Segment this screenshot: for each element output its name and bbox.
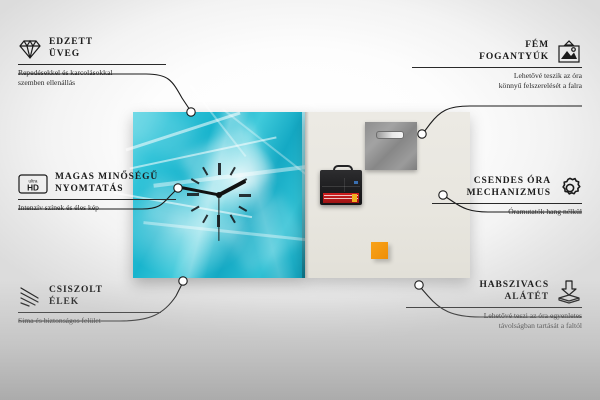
callout-metal-handles[interactable]: FÉM FOGANTYÚK Lehetővé teszik az óra kön… (412, 40, 582, 91)
callout-rule (18, 312, 161, 313)
clock-center-pin (216, 192, 222, 198)
callout-desc-line1: Sima és biztonságos felület (18, 316, 173, 326)
callout-desc-line2: könnyű felszerelését a falra (412, 81, 582, 91)
callout-title-line1: MAGAS MINŐSÉGŰ (55, 172, 158, 184)
callout-description: Intenzív színek és éles kép (18, 203, 188, 213)
mechanism-label (323, 193, 359, 203)
callout-title: EDZETT ÜVEG (49, 37, 93, 61)
polished-edges-icon (18, 286, 42, 308)
callout-title: MAGAS MINŐSÉGŰ NYOMTATÁS (55, 172, 158, 196)
callout-rule (18, 199, 176, 200)
mechanism-body (320, 170, 362, 205)
mechanism-seam (322, 186, 360, 187)
callout-description: Lehetővé teszik az óra könnyű felszerelé… (412, 71, 582, 91)
callout-description: Óramutatók hang nélkül (432, 207, 582, 217)
callout-desc-line1: Lehetővé teszi az óra egyenletes (406, 311, 582, 321)
callout-title-line2: MECHANIZMUS (467, 188, 551, 200)
callout-header: ultra HD MAGAS MINŐSÉGŰ NYOMTATÁS (18, 172, 188, 196)
clock-mechanism (320, 165, 362, 205)
callout-desc-line1: Óramutatók hang nélkül (432, 207, 582, 217)
callout-tempered-glass[interactable]: EDZETT ÜVEG Repedésekkel és karcolásokka… (18, 37, 178, 88)
callout-desc-line1: Intenzív színek és éles kép (18, 203, 188, 213)
callout-silent-mechanism[interactable]: CSENDES ÓRA MECHANIZMUS Óramutatók hang … (432, 176, 582, 217)
infographic-canvas: EDZETT ÜVEG Repedésekkel és karcolásokka… (0, 0, 600, 400)
callout-description: Lehetővé teszi az óra egyenletes távolsá… (406, 311, 582, 331)
down-arrow-pad-icon (556, 280, 582, 304)
callout-title-line1: CSENDES ÓRA (467, 176, 551, 188)
callout-title-line2: NYOMTATÁS (55, 184, 158, 196)
callout-description: Repedésekkel és karcolásokkal szemben el… (18, 68, 178, 88)
svg-text:HD: HD (27, 183, 39, 192)
callout-desc-line2: távolságban tartását a faltól (406, 321, 582, 331)
callout-title: FÉM FOGANTYÚK (479, 40, 549, 64)
label-badge (352, 194, 357, 202)
callout-title: CSENDES ÓRA MECHANIZMUS (467, 176, 551, 200)
callout-description: Sima és biztonságos felület (18, 316, 173, 326)
mechanism-seam-vertical (344, 178, 345, 192)
callout-rule (406, 307, 582, 308)
callout-header: EDZETT ÜVEG (18, 37, 178, 61)
foam-pad (371, 242, 388, 259)
callout-rule (18, 64, 166, 65)
callout-title: HABSZIVACS ALÁTÉT (479, 280, 549, 304)
callout-desc-line1: Repedésekkel és karcolásokkal (18, 68, 178, 78)
callout-header: CSENDES ÓRA MECHANIZMUS (432, 176, 582, 200)
callout-title-line1: HABSZIVACS (479, 280, 549, 292)
callout-title-line2: ALÁTÉT (479, 292, 549, 304)
callout-title-line1: CSISZOLT (49, 285, 103, 297)
callout-desc-line1: Lehetővé teszik az óra (412, 71, 582, 81)
hanger-slot (376, 131, 404, 139)
callout-title-line1: FÉM (479, 40, 549, 52)
callout-title: CSISZOLT ÉLEK (49, 285, 103, 309)
picture-frame-icon (556, 40, 582, 64)
callout-header: HABSZIVACS ALÁTÉT (406, 280, 582, 304)
callout-title-line2: ÜVEG (49, 49, 93, 61)
callout-title-line2: FOGANTYÚK (479, 52, 549, 64)
callout-polished-edges[interactable]: CSISZOLT ÉLEK Sima és biztonságos felüle… (18, 285, 173, 326)
callout-header: CSISZOLT ÉLEK (18, 285, 173, 309)
mechanism-indicator (354, 181, 358, 184)
callout-title-line1: EDZETT (49, 37, 93, 49)
callout-foam-pad[interactable]: HABSZIVACS ALÁTÉT Lehetővé teszi az óra … (406, 280, 582, 331)
callout-header: FÉM FOGANTYÚK (412, 40, 582, 64)
gear-icon (558, 176, 582, 200)
panel-lip (305, 112, 309, 278)
callout-desc-line2: szemben ellenállás (18, 78, 178, 88)
callout-high-quality-print[interactable]: ultra HD MAGAS MINŐSÉGŰ NYOMTATÁS Intenz… (18, 172, 188, 213)
callout-title-line2: ÉLEK (49, 297, 103, 309)
metal-hanger-plate (365, 122, 417, 170)
ultra-hd-icon: ultra HD (18, 173, 48, 195)
diamond-icon (18, 38, 42, 60)
callout-rule (412, 67, 582, 68)
callout-rule (432, 203, 582, 204)
